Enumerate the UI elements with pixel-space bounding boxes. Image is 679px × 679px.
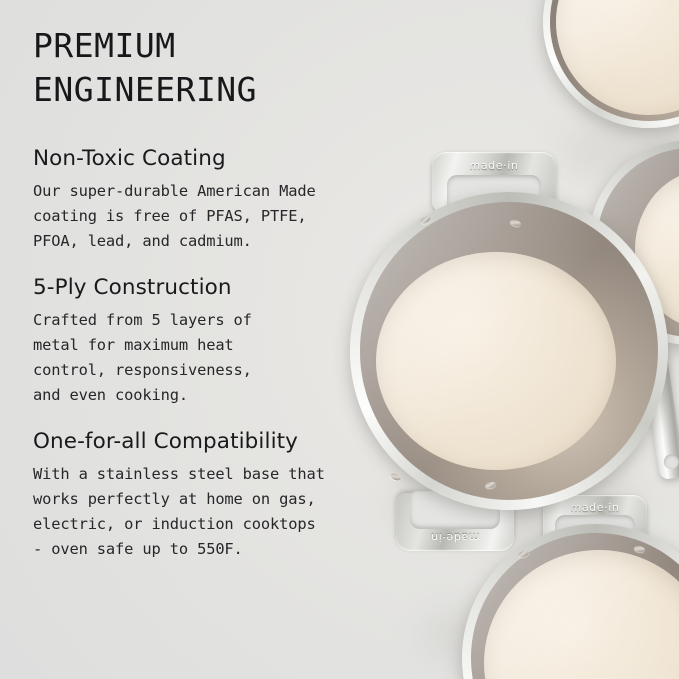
brand-mark-stockpot: made·in (432, 159, 556, 172)
top-fry-pan (543, 0, 679, 128)
feature-list: Non-Toxic Coating Our super-durable Amer… (33, 146, 399, 561)
right-saucepan-handle-hole (663, 453, 679, 470)
infographic-canvas: made·in made·in made·in (0, 0, 679, 679)
feature-title: 5-Ply Construction (33, 275, 399, 300)
stockpot-cooking-surface (376, 252, 616, 470)
feature-body: Crafted from 5 layers of metal for maxim… (33, 308, 399, 408)
feature-one-for-all-compatibility: One-for-all Compatibility With a stainle… (33, 429, 399, 562)
brand-mark-bottom-left: made·in (396, 531, 514, 544)
feature-title: Non-Toxic Coating (33, 146, 399, 171)
feature-body: Our super-durable American Made coating … (33, 179, 399, 254)
feature-5-ply-construction: 5-Ply Construction Crafted from 5 layers… (33, 275, 399, 408)
feature-non-toxic-coating: Non-Toxic Coating Our super-durable Amer… (33, 146, 399, 254)
feature-body: With a stainless steel base that works p… (33, 462, 399, 562)
page-title: PREMIUM ENGINEERING (33, 24, 413, 112)
brand-mark-bottom-right: made·in (543, 501, 647, 514)
feature-title: One-for-all Compatibility (33, 429, 399, 454)
